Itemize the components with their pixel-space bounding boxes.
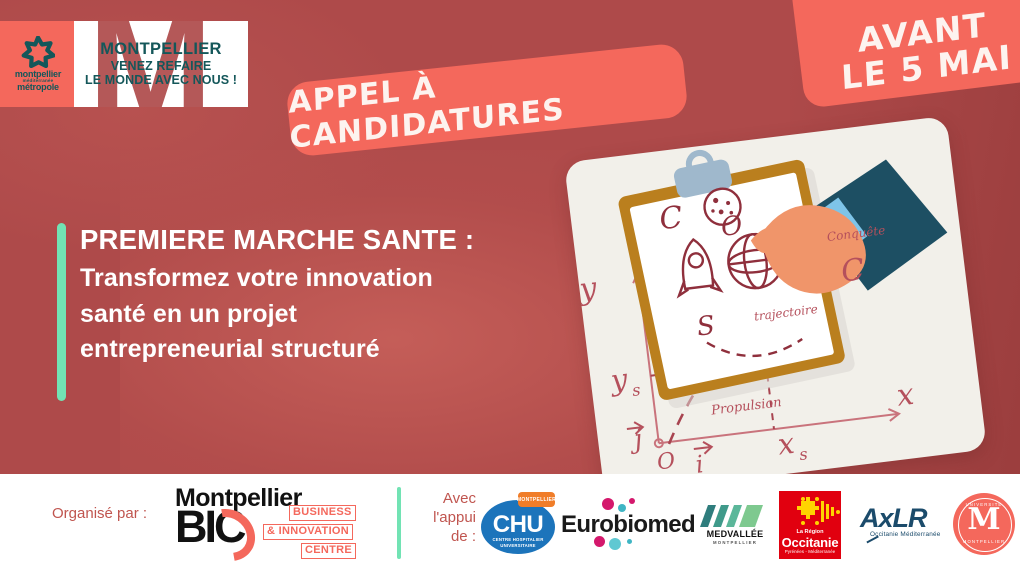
eurobiomed-wordmark: Eurobiomed bbox=[561, 511, 695, 539]
label-xs-sub: s bbox=[798, 444, 808, 464]
ebm-dot-3 bbox=[629, 498, 635, 504]
label-c: C bbox=[658, 200, 685, 238]
chu-acronym: CHU bbox=[481, 511, 555, 539]
occitanie-line2: Occitanie bbox=[779, 535, 841, 550]
headline-accent-bar bbox=[57, 223, 66, 401]
um-monogram: M bbox=[953, 505, 1015, 535]
illustration-content: y x y s x s O i j Propulsion trajectoire… bbox=[564, 116, 987, 496]
occitan-cross-icon bbox=[779, 495, 841, 529]
medvallee-subtitle: MONTPELLIER bbox=[700, 540, 770, 545]
metropole-line3: métropole bbox=[15, 83, 61, 92]
star-icon bbox=[21, 36, 55, 68]
ebm-dot-1 bbox=[602, 498, 614, 510]
promo-banner: montpellier méditerranée métropole M MON… bbox=[0, 0, 1020, 573]
bic-tag-business: BUSINESS bbox=[289, 505, 356, 521]
chu-montpellier-logo: MONTPELLIER CHU CENTRE HOSPITALIER UNIVE… bbox=[481, 492, 555, 556]
illustration-card: y x y s x s O i j Propulsion trajectoire… bbox=[564, 116, 987, 496]
region-occitanie-logo: La Région Occitanie Pyrénées - Méditerra… bbox=[779, 491, 841, 559]
eurobiomed-logo: Eurobiomed bbox=[561, 498, 689, 550]
montpellier-bic-logo: Montpellier BIC BUSINESS & INNOVATION CE… bbox=[175, 484, 375, 562]
ebm-dot-5 bbox=[609, 538, 621, 550]
medvallee-logo: MEDVALLÉE MONTPELLIER bbox=[700, 505, 770, 549]
label-s: S bbox=[695, 311, 716, 343]
slogan-panel: M MONTPELLIER VENEZ REFAIRE LE MONDE AVE… bbox=[74, 21, 248, 107]
trajectory-diagram: y x y s x s O i j Propulsion trajectoire… bbox=[564, 116, 987, 496]
chu-subtitle: CENTRE HOSPITALIER UNIVERSITAIRE bbox=[481, 537, 555, 548]
montpellier-metropole-logo: montpellier méditerranée métropole M MON… bbox=[0, 21, 248, 107]
universite-montpellier-logo: UNIVERSITE M MONTPELLIER bbox=[953, 493, 1015, 555]
organised-by-label: Organisé par : bbox=[52, 505, 147, 524]
headline-line1: Transformez votre innovation bbox=[80, 261, 600, 297]
metropole-mark: montpellier méditerranée métropole bbox=[0, 21, 76, 107]
label-x: x bbox=[895, 377, 916, 414]
label-o: O bbox=[719, 211, 744, 243]
footer-divider bbox=[397, 487, 401, 559]
headline-line3: entrepreneurial structuré bbox=[80, 332, 600, 368]
occitanie-line3: Pyrénées - Méditerranée bbox=[779, 549, 841, 554]
headline-block: PREMIERE MARCHE SANTE : Transformez votr… bbox=[80, 222, 600, 368]
slogan-line1: VENEZ REFAIRE bbox=[111, 59, 212, 73]
label-c2: C bbox=[839, 252, 866, 290]
headline-line2: santé en un projet bbox=[80, 297, 600, 333]
medvallee-wordmark: MEDVALLÉE bbox=[700, 529, 770, 539]
slogan-title: MONTPELLIER bbox=[100, 41, 222, 58]
medvallee-bars-icon bbox=[704, 505, 766, 527]
ebm-dot-6 bbox=[627, 539, 632, 544]
support-line3: de : bbox=[418, 528, 476, 547]
axlr-logo: AxLR Occitanie Méditerranée bbox=[860, 503, 944, 545]
headline-title: PREMIERE MARCHE SANTE : bbox=[80, 222, 600, 259]
axlr-subtitle: Occitanie Méditerranée bbox=[870, 531, 940, 538]
support-label: Avec l'appui de : bbox=[418, 490, 476, 546]
slogan-line2: LE MONDE AVEC NOUS ! bbox=[85, 73, 237, 87]
slogan-text: MONTPELLIER VENEZ REFAIRE LE MONDE AVEC … bbox=[74, 21, 248, 107]
label-ys-sub: s bbox=[631, 380, 641, 400]
um-ring-bottom: MONTPELLIER bbox=[953, 539, 1015, 544]
bic-tag-innovation: & INNOVATION bbox=[263, 524, 353, 540]
label-origin: O bbox=[656, 448, 677, 475]
bic-tag-centre: CENTRE bbox=[301, 543, 356, 559]
label-ys: y bbox=[607, 362, 630, 398]
label-xs: x bbox=[776, 426, 796, 462]
chu-tab-label: MONTPELLIER bbox=[518, 492, 555, 507]
support-line1: Avec bbox=[418, 490, 476, 509]
support-line2: l'appui bbox=[418, 509, 476, 528]
metropole-wordmark: montpellier méditerranée métropole bbox=[15, 70, 61, 93]
